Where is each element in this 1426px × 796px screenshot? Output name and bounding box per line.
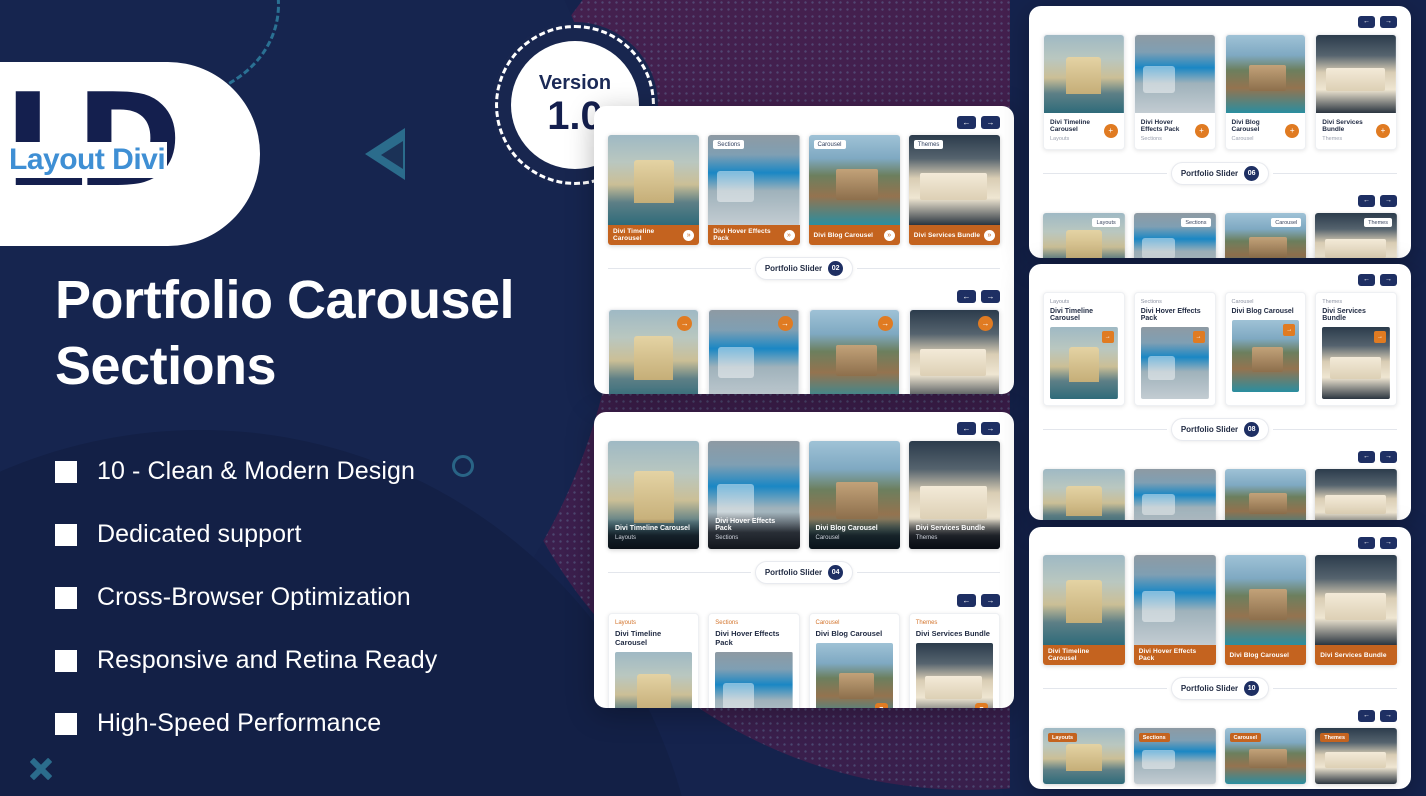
- list-item: Cross-Browser Optimization: [55, 566, 615, 629]
- carousel-track-3a: Divi Timeline Carousel Layouts + Divi Ho…: [1043, 34, 1397, 150]
- card-title: Divi Hover Effects Pack: [713, 228, 783, 242]
- prev-arrow-icon[interactable]: ←: [1358, 451, 1375, 463]
- list-item: Dedicated support: [55, 503, 615, 566]
- card-category: Sections: [1141, 136, 1195, 142]
- card-title: Divi Timeline Carousel: [615, 525, 692, 532]
- mockup-card-1: ← → Divi Timeline Carousel » Sections Di…: [594, 106, 1014, 394]
- list-item: Responsive and Retina Ready: [55, 629, 615, 692]
- portfolio-card[interactable]: Themes Divi Services Bundle »: [909, 135, 1000, 245]
- slider-badge: Portfolio Slider 10: [1171, 677, 1269, 700]
- arrow-icon[interactable]: →: [878, 316, 893, 331]
- thumbnail-image: →: [1232, 320, 1300, 392]
- section-divider: Portfolio Slider 10: [1043, 677, 1397, 700]
- thumbnail-image: ■: [615, 652, 692, 708]
- chevron-icon[interactable]: »: [984, 230, 995, 241]
- thumbnail-image: [1134, 555, 1216, 645]
- triangle-inner-cutout: [381, 141, 403, 169]
- portfolio-card[interactable]: Layouts: [1043, 728, 1125, 784]
- feature-label: High-Speed Performance: [97, 709, 381, 738]
- next-arrow-icon[interactable]: →: [981, 422, 1000, 435]
- thumbnail-image: [1043, 469, 1125, 520]
- slider-badge: Portfolio Slider 08: [1171, 418, 1269, 441]
- prev-arrow-icon[interactable]: ←: [1358, 195, 1375, 207]
- card-title: Divi Hover Effects Pack: [715, 518, 792, 532]
- feature-list: 10 - Clean & Modern Design Dedicated sup…: [55, 440, 615, 755]
- portfolio-card[interactable]: Sections: [1134, 728, 1216, 784]
- card-title: Divi Services Bundle: [1320, 652, 1386, 659]
- prev-arrow-icon[interactable]: ←: [1358, 710, 1375, 722]
- bullet-square-icon: [55, 587, 77, 609]
- card-title: Divi Services Bundle: [1322, 308, 1390, 322]
- portfolio-card[interactable]: Divi Blog Carousel: [1225, 555, 1307, 665]
- carousel-nav-3b: ← →: [1043, 195, 1397, 207]
- carousel-nav-3a: ← →: [1043, 16, 1397, 28]
- portfolio-card[interactable]: Carousel: [1225, 213, 1307, 258]
- thumbnail-image: [1226, 35, 1306, 113]
- section-divider: Portfolio Slider 06: [1043, 162, 1397, 185]
- card-title: Divi Services Bundle: [916, 629, 993, 638]
- card-category: Layouts: [1050, 299, 1118, 305]
- next-arrow-icon[interactable]: →: [1380, 537, 1397, 549]
- plus-icon[interactable]: +: [1285, 124, 1299, 138]
- prev-arrow-icon[interactable]: ←: [957, 116, 976, 129]
- portfolio-card[interactable]: [1225, 469, 1307, 520]
- feature-label: Responsive and Retina Ready: [97, 646, 437, 675]
- card-category: Themes: [1322, 299, 1390, 305]
- portfolio-card[interactable]: Sections: [1134, 213, 1216, 258]
- carousel-track-3b: Layouts Sections Carousel Themes: [1043, 213, 1397, 258]
- carousel-track-4a: Layouts Divi Timeline Carousel → Section…: [1043, 292, 1397, 406]
- next-arrow-icon[interactable]: →: [981, 116, 1000, 129]
- portfolio-card[interactable]: Divi Hover Effects Pack Sections: [708, 441, 799, 549]
- portfolio-card[interactable]: Divi Services Bundle: [1315, 555, 1397, 665]
- card-category: Carousel: [816, 620, 893, 626]
- portfolio-card[interactable]: → Divi Timeline Carousel Layouts: [608, 309, 699, 394]
- category-tag: Sections: [713, 140, 744, 149]
- portfolio-card[interactable]: Layouts: [1043, 213, 1125, 258]
- slider-number: 02: [828, 261, 843, 276]
- bookmark-icon[interactable]: ■: [975, 703, 988, 708]
- arrow-icon[interactable]: →: [1102, 331, 1114, 343]
- slider-number: 08: [1244, 422, 1259, 437]
- portfolio-card[interactable]: Themes: [1315, 728, 1397, 784]
- card-title: Divi Timeline Carousel: [613, 228, 683, 242]
- card-category: Themes: [916, 535, 993, 541]
- portfolio-card[interactable]: Themes Divi Services Bundle ■: [909, 613, 1000, 708]
- page-title: Portfolio Carousel Sections: [55, 268, 615, 400]
- thumbnail-image: →: [609, 310, 698, 394]
- bullet-square-icon: [55, 524, 77, 546]
- slider-badge: Portfolio Slider 06: [1171, 162, 1269, 185]
- thumbnail-image: [1225, 469, 1307, 520]
- portfolio-card[interactable]: → Divi Services Bundle Themes: [909, 309, 1000, 394]
- prev-arrow-icon[interactable]: ←: [957, 594, 976, 607]
- portfolio-card[interactable]: Divi Timeline Carousel »: [608, 135, 699, 245]
- card-title: Divi Blog Carousel: [814, 232, 874, 239]
- next-arrow-icon[interactable]: →: [1380, 274, 1397, 286]
- prev-arrow-icon[interactable]: ←: [1358, 274, 1375, 286]
- bullet-square-icon: [55, 650, 77, 672]
- list-item: 10 - Clean & Modern Design: [55, 440, 615, 503]
- portfolio-card[interactable]: → Divi Blog Carousel Carousel: [809, 309, 900, 394]
- portfolio-card[interactable]: [1043, 469, 1125, 520]
- card-title: Divi Timeline Carousel: [1050, 119, 1104, 133]
- logo-wordmark: Layout Divi: [7, 142, 167, 178]
- slider-number: 10: [1244, 681, 1259, 696]
- thumbnail-image: [1315, 469, 1397, 520]
- slider-label: Portfolio Slider: [765, 568, 822, 577]
- card-title: Divi Timeline Carousel: [1048, 648, 1120, 662]
- plus-icon[interactable]: +: [1195, 124, 1209, 138]
- thumbnail-image: ■: [715, 652, 792, 708]
- thumbnail-image: [1135, 35, 1215, 113]
- portfolio-card[interactable]: Themes Divi Services Bundle →: [1315, 292, 1397, 406]
- category-tag: Layouts: [1092, 218, 1119, 227]
- feature-label: Dedicated support: [97, 520, 302, 549]
- carousel-track-4b: [1043, 469, 1397, 520]
- logo-pill: LD Layout Divi: [0, 62, 260, 246]
- portfolio-card[interactable]: [1315, 469, 1397, 520]
- card-title: Divi Hover Effects Pack: [715, 629, 792, 647]
- portfolio-card[interactable]: Divi Hover Effects Pack Sections +: [1134, 34, 1216, 150]
- category-tag: Sections: [1139, 733, 1170, 742]
- mockup-card-2: ← → Divi Timeline Carousel Layouts Divi …: [594, 412, 1014, 708]
- card-category: Layouts: [1050, 136, 1104, 142]
- carousel-track-1a: Divi Timeline Carousel » Sections Divi H…: [608, 135, 1000, 245]
- portfolio-card[interactable]: Divi Services Bundle Themes +: [1315, 34, 1397, 150]
- mockup-card-4: ← → Layouts Divi Timeline Carousel → Sec…: [1029, 264, 1411, 520]
- chevron-icon[interactable]: »: [784, 230, 795, 241]
- thumbnail-image: →: [910, 310, 999, 394]
- plus-icon[interactable]: +: [1104, 124, 1118, 138]
- card-title: Divi Hover Effects Pack: [1141, 308, 1209, 322]
- thumbnail-image: [1316, 35, 1396, 113]
- carousel-track-5a: Divi Timeline Carousel Divi Hover Effect…: [1043, 555, 1397, 665]
- prev-arrow-icon[interactable]: ←: [1358, 16, 1375, 28]
- thumbnail-image: [1315, 555, 1397, 645]
- thumbnail-image: [608, 135, 699, 225]
- feature-label: Cross-Browser Optimization: [97, 583, 411, 612]
- portfolio-card[interactable]: Sections Divi Hover Effects Pack →: [1134, 292, 1216, 406]
- section-divider: Portfolio Slider 02: [608, 257, 1000, 280]
- next-arrow-icon[interactable]: →: [1380, 16, 1397, 28]
- card-title: Divi Hover Effects Pack: [1141, 119, 1195, 133]
- bullet-square-icon: [55, 461, 77, 483]
- thumbnail-image: Carousel: [809, 135, 900, 225]
- prev-arrow-icon[interactable]: ←: [957, 290, 976, 303]
- card-title: Divi Blog Carousel: [1232, 119, 1286, 133]
- slider-number: 04: [828, 565, 843, 580]
- card-category: Layouts: [615, 535, 692, 541]
- thumbnail-image: [1044, 35, 1124, 113]
- arrow-icon[interactable]: →: [1374, 331, 1386, 343]
- arrow-icon[interactable]: →: [1283, 324, 1295, 336]
- card-category: Layouts: [615, 620, 692, 626]
- card-category: Carousel: [816, 535, 893, 541]
- plus-icon[interactable]: +: [1376, 124, 1390, 138]
- portfolio-card[interactable]: Divi Timeline Carousel Layouts +: [1043, 34, 1125, 150]
- card-title: Divi Services Bundle: [916, 525, 993, 532]
- portfolio-card[interactable]: Sections Divi Hover Effects Pack »: [708, 135, 799, 245]
- next-arrow-icon[interactable]: →: [1380, 451, 1397, 463]
- category-tag: Carousel: [814, 140, 846, 149]
- list-item: High-Speed Performance: [55, 692, 615, 755]
- portfolio-card[interactable]: Themes: [1315, 213, 1397, 258]
- carousel-nav-5a: ← →: [1043, 537, 1397, 549]
- portfolio-card[interactable]: [1134, 469, 1216, 520]
- chevron-icon[interactable]: »: [884, 230, 895, 241]
- category-tag: Carousel: [1271, 218, 1301, 227]
- card-title: Divi Blog Carousel: [1230, 652, 1290, 659]
- thumbnail-image: →: [810, 310, 899, 394]
- slider-label: Portfolio Slider: [1181, 169, 1238, 178]
- carousel-nav-1b: ← →: [608, 290, 1000, 303]
- card-category: Carousel: [1232, 299, 1300, 305]
- card-category: Sections: [715, 535, 792, 541]
- card-category: Sections: [1141, 299, 1209, 305]
- carousel-track-2a: Divi Timeline Carousel Layouts Divi Hove…: [608, 441, 1000, 549]
- next-arrow-icon[interactable]: →: [1380, 710, 1397, 722]
- portfolio-card[interactable]: Layouts Divi Timeline Carousel ■: [608, 613, 699, 708]
- prev-arrow-icon[interactable]: ←: [1358, 537, 1375, 549]
- portfolio-card[interactable]: Divi Services Bundle Themes: [909, 441, 1000, 549]
- card-title: Divi Blog Carousel: [1232, 308, 1300, 315]
- arrow-icon[interactable]: →: [1193, 331, 1205, 343]
- feature-label: 10 - Clean & Modern Design: [97, 457, 415, 486]
- next-arrow-icon[interactable]: →: [981, 594, 1000, 607]
- category-tag: Sections: [1181, 218, 1210, 227]
- thumbnail-image: [1225, 555, 1307, 645]
- category-tag: Themes: [1364, 218, 1392, 227]
- carousel-nav-1a: ← →: [608, 116, 1000, 129]
- portfolio-card[interactable]: Carousel: [1225, 728, 1307, 784]
- portfolio-card[interactable]: Carousel Divi Blog Carousel ■: [809, 613, 900, 708]
- card-title: Divi Timeline Carousel: [615, 629, 692, 647]
- card-category: Themes: [916, 620, 993, 626]
- category-tag: Themes: [1320, 733, 1349, 742]
- slider-badge: Portfolio Slider 04: [755, 561, 853, 584]
- slider-badge: Portfolio Slider 02: [755, 257, 853, 280]
- thumbnail-image: →: [1322, 327, 1390, 399]
- card-title: Divi Services Bundle: [1322, 119, 1376, 133]
- card-title: Divi Timeline Carousel: [1050, 308, 1118, 322]
- thumbnail-image: Themes: [909, 135, 1000, 225]
- bullet-square-icon: [55, 713, 77, 735]
- carousel-track-2b: Layouts Divi Timeline Carousel ■ Section…: [608, 613, 1000, 708]
- card-category: Themes: [1322, 136, 1376, 142]
- prev-arrow-icon[interactable]: ←: [957, 422, 976, 435]
- thumbnail-image: ■: [816, 643, 893, 708]
- thumbnail-image: →: [1141, 327, 1209, 399]
- carousel-track-1b: → Divi Timeline Carousel Layouts → Divi …: [608, 309, 1000, 394]
- thumbnail-image: ■: [916, 643, 993, 708]
- thumbnail-image: Sections: [708, 135, 799, 225]
- close-x-icon: [28, 756, 54, 782]
- next-arrow-icon[interactable]: →: [981, 290, 1000, 303]
- bookmark-icon[interactable]: ■: [875, 703, 888, 708]
- carousel-nav-2a: ← →: [608, 422, 1000, 435]
- thumbnail-image: [1043, 555, 1125, 645]
- card-title: Divi Hover Effects Pack: [1139, 648, 1211, 662]
- slider-label: Portfolio Slider: [1181, 684, 1238, 693]
- thumbnail-image: →: [1050, 327, 1118, 399]
- arrow-icon[interactable]: →: [978, 316, 993, 331]
- carousel-nav-4b: ← →: [1043, 451, 1397, 463]
- section-divider: Portfolio Slider 04: [608, 561, 1000, 584]
- next-arrow-icon[interactable]: →: [1380, 195, 1397, 207]
- category-tag: Themes: [914, 140, 944, 149]
- category-tag: Layouts: [1048, 733, 1077, 742]
- portfolio-card[interactable]: Carousel Divi Blog Carousel →: [1225, 292, 1307, 406]
- arrow-icon[interactable]: →: [677, 316, 692, 331]
- portfolio-card[interactable]: Divi Blog Carousel Carousel +: [1225, 34, 1307, 150]
- category-tag: Carousel: [1230, 733, 1262, 742]
- portfolio-card[interactable]: Sections Divi Hover Effects Pack ■: [708, 613, 799, 708]
- card-title: Divi Blog Carousel: [816, 629, 893, 638]
- arrow-icon[interactable]: →: [778, 316, 793, 331]
- thumbnail-image: →: [709, 310, 798, 394]
- portfolio-card[interactable]: Divi Hover Effects Pack: [1134, 555, 1216, 665]
- portfolio-card[interactable]: → Divi Hover Effects Pack Sections: [708, 309, 799, 394]
- card-title: Divi Services Bundle: [914, 232, 980, 239]
- carousel-nav-5b: ← →: [1043, 710, 1397, 722]
- portfolio-card[interactable]: Layouts Divi Timeline Carousel →: [1043, 292, 1125, 406]
- card-category: Sections: [715, 620, 792, 626]
- carousel-track-5b: Layouts Sections Carousel Themes: [1043, 728, 1397, 784]
- portfolio-card[interactable]: Divi Timeline Carousel Layouts: [608, 441, 699, 549]
- slider-number: 06: [1244, 166, 1259, 181]
- portfolio-card[interactable]: Carousel Divi Blog Carousel »: [809, 135, 900, 245]
- chevron-icon[interactable]: »: [683, 230, 694, 241]
- thumbnail-image: [1134, 469, 1216, 520]
- slider-label: Portfolio Slider: [765, 264, 822, 273]
- portfolio-card[interactable]: Divi Blog Carousel Carousel: [809, 441, 900, 549]
- carousel-nav-4a: ← →: [1043, 274, 1397, 286]
- mockup-card-3: ← → Divi Timeline Carousel Layouts + Div…: [1029, 6, 1411, 258]
- carousel-nav-2b: ← →: [608, 594, 1000, 607]
- section-divider: Portfolio Slider 08: [1043, 418, 1397, 441]
- mockup-card-5: ← → Divi Timeline Carousel Divi Hover Ef…: [1029, 527, 1411, 789]
- card-category: Carousel: [1232, 136, 1286, 142]
- portfolio-card[interactable]: Divi Timeline Carousel: [1043, 555, 1125, 665]
- version-label: Version: [539, 73, 611, 93]
- card-title: Divi Blog Carousel: [816, 525, 893, 532]
- slider-label: Portfolio Slider: [1181, 425, 1238, 434]
